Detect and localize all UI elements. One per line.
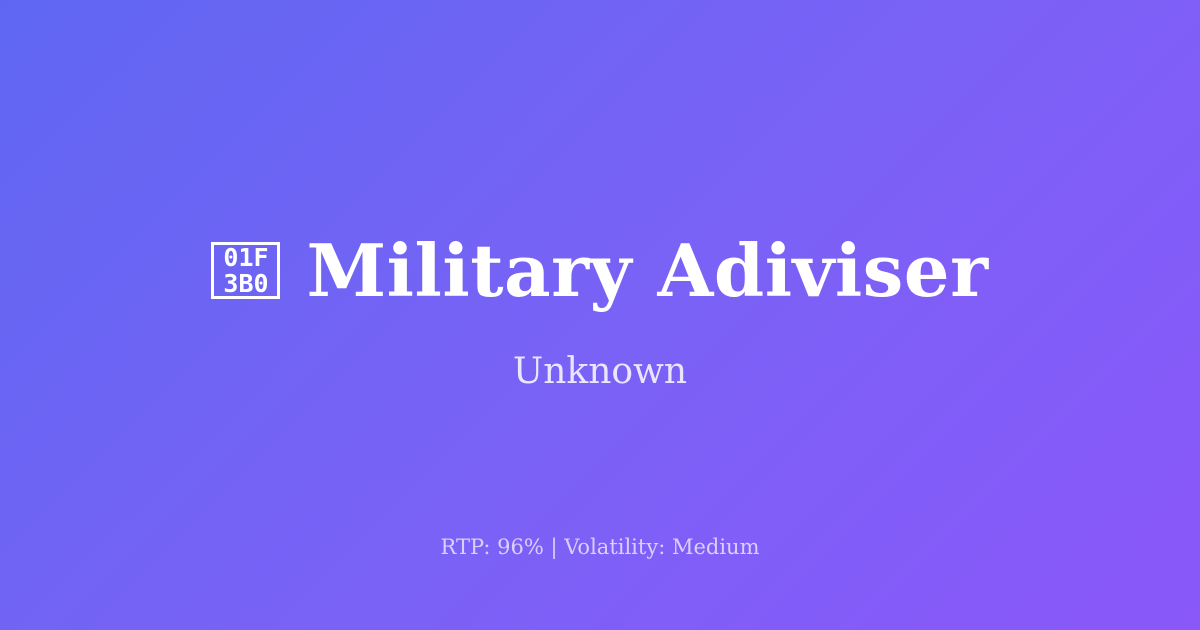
page-title: Military Adiviser xyxy=(306,233,988,309)
title-row: 01F 3B0 Military Adiviser xyxy=(0,233,1200,309)
game-stats-footer: RTP: 96% | Volatility: Medium xyxy=(0,535,1200,560)
card-main-content: 01F 3B0 Military Adiviser Unknown xyxy=(0,233,1200,398)
slot-machine-tofu-icon: 01F 3B0 xyxy=(211,242,280,299)
og-card: 01F 3B0 Military Adiviser Unknown RTP: 9… xyxy=(0,0,1200,630)
card-subtitle: Unknown xyxy=(513,350,687,393)
tofu-codepoint-bottom: 3B0 xyxy=(223,271,268,296)
tofu-codepoint-top: 01F xyxy=(223,245,268,270)
